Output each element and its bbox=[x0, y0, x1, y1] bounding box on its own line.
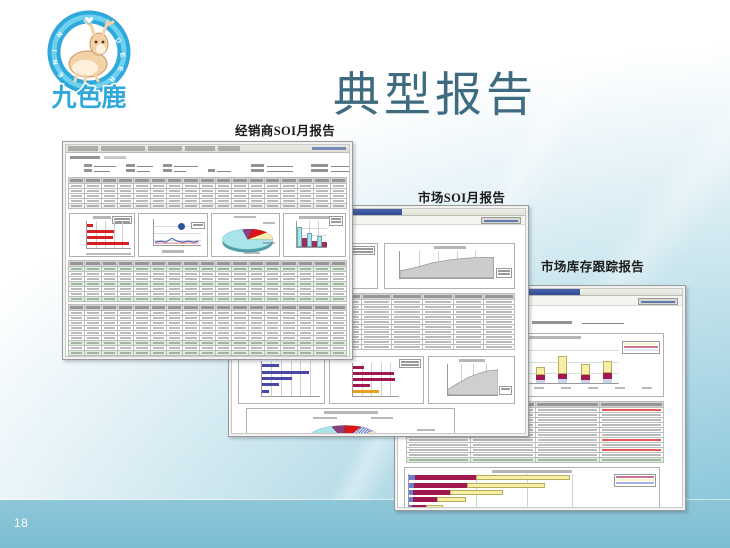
deer-logo-icon: N I N E D E E R bbox=[33, 8, 145, 113]
svg-text:九色鹿: 九色鹿 bbox=[50, 83, 126, 112]
sales-bar-chart bbox=[69, 213, 135, 257]
summary-table[interactable] bbox=[68, 177, 347, 209]
slide-background: N I N E D E E R bbox=[0, 0, 730, 548]
return-to-index-link[interactable] bbox=[481, 217, 521, 224]
caption-market-inventory-report: 市场库存跟踪报告 bbox=[541, 256, 644, 275]
monthly-comparison-chart bbox=[283, 213, 346, 257]
trend-forecast-chart bbox=[428, 356, 515, 404]
menu-item-3[interactable] bbox=[148, 146, 182, 151]
menu-item-5[interactable] bbox=[218, 146, 240, 151]
detail-table-1[interactable] bbox=[68, 260, 347, 302]
menu-item-1[interactable] bbox=[68, 146, 98, 151]
caption-market-soi-report: 市场SOI月报告 bbox=[418, 187, 505, 206]
chart-legend bbox=[614, 474, 656, 487]
app-menu-bar[interactable] bbox=[66, 145, 349, 153]
return-to-index-link[interactable] bbox=[638, 298, 678, 305]
detail-table-2[interactable] bbox=[68, 304, 347, 357]
caption-dealer-soi-report: 经销商SOI月报告 bbox=[235, 120, 335, 139]
screenshot-dealer-soi-report[interactable] bbox=[62, 141, 353, 360]
data-point-marker bbox=[178, 223, 185, 230]
company-logo: N I N E D E E R bbox=[33, 8, 145, 113]
menu-item-2[interactable] bbox=[101, 146, 145, 151]
growth-bar-chart bbox=[329, 356, 424, 404]
inventory-structure-bar-chart bbox=[404, 467, 660, 508]
product-structure-pie-chart bbox=[246, 408, 455, 434]
page-number: 18 bbox=[14, 516, 28, 530]
trend-line-chart bbox=[138, 213, 207, 257]
return-to-index-link[interactable] bbox=[312, 147, 346, 150]
menu-item-4[interactable] bbox=[185, 146, 215, 151]
regional-sales-bar-chart bbox=[238, 356, 325, 404]
structure-pie-chart bbox=[211, 213, 280, 257]
page-title: 典型报告 bbox=[333, 56, 537, 125]
chart-legend bbox=[622, 341, 660, 354]
cumulative-trend-chart bbox=[384, 243, 515, 289]
